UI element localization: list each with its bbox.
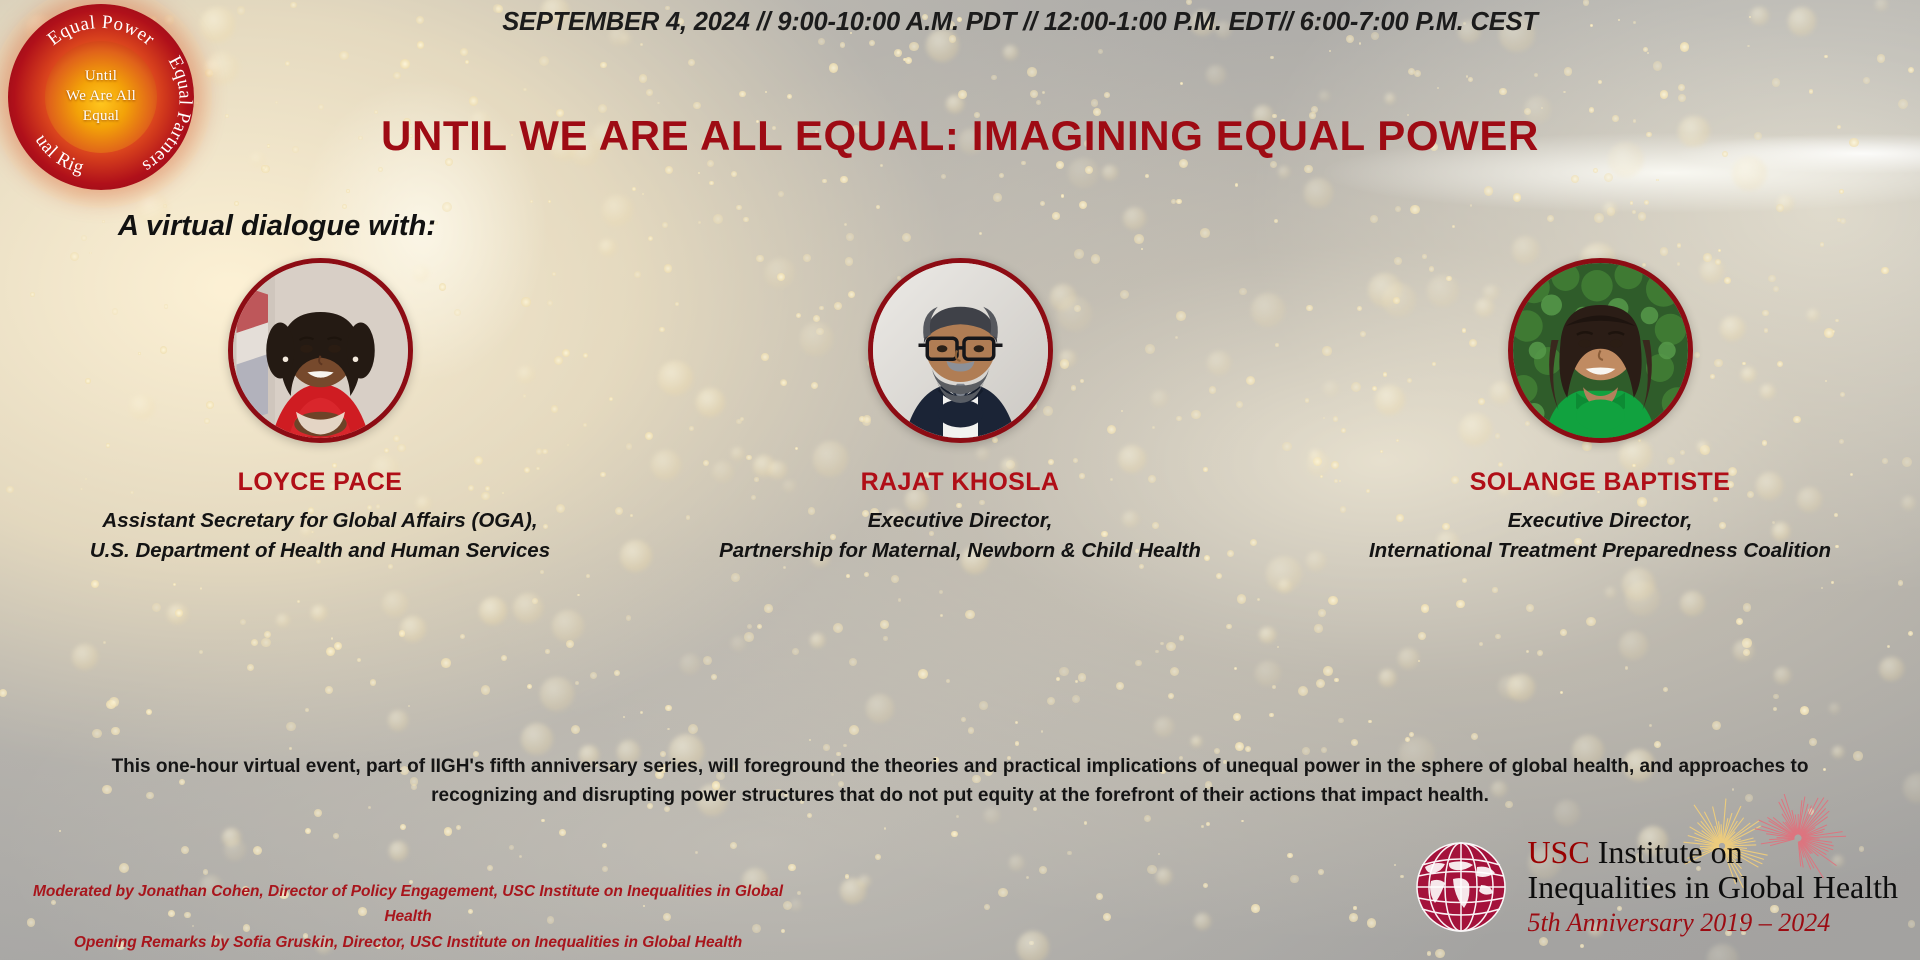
moderator-credit: Moderated by Jonathan Cohen, Director of…	[18, 880, 798, 930]
speaker-card: RAJAT KHOSLA Executive Director, Partner…	[680, 258, 1240, 567]
portrait-solange-baptiste	[1508, 258, 1693, 443]
usc-institute-on: Institute on	[1590, 834, 1743, 870]
badge-center-line-2: We Are All	[66, 87, 136, 107]
portrait-loyce-pace	[228, 258, 413, 443]
usc-logo-text: USC Institute on Inequalities in Global …	[1527, 836, 1898, 937]
globe-icon	[1411, 837, 1511, 937]
speaker-name: RAJAT KHOSLA	[861, 468, 1060, 497]
credits: Moderated by Jonathan Cohen, Director of…	[18, 880, 798, 955]
portrait-rajat-khosla	[868, 258, 1053, 443]
badge-center-line-1: Until	[85, 67, 117, 87]
usc-logo-line-2: Inequalities in Global Health	[1527, 870, 1898, 905]
usc-institute-logo: USC Institute on Inequalities in Global …	[1411, 828, 1898, 946]
usc-acronym: USC	[1527, 834, 1589, 870]
usc-logo-line-1: USC Institute on	[1527, 836, 1898, 870]
event-description: This one-hour virtual event, part of IIG…	[60, 752, 1860, 811]
opening-remarks-credit: Opening Remarks by Sofia Gruskin, Direct…	[18, 931, 798, 956]
speaker-name: SOLANGE BAPTISTE	[1470, 468, 1731, 497]
speaker-card: SOLANGE BAPTISTE Executive Director, Int…	[1320, 258, 1880, 567]
usc-anniversary-tagline: 5th Anniversary 2019 – 2024	[1527, 908, 1898, 938]
flyer-canvas: Equal Power Equal Partners Equal Rights …	[0, 0, 1920, 960]
event-datetime: SEPTEMBER 4, 2024 // 9:00-10:00 A.M. PDT…	[0, 8, 1920, 37]
speaker-role: Assistant Secretary for Global Affairs (…	[90, 506, 550, 567]
dialogue-label: A virtual dialogue with:	[118, 210, 436, 243]
page-title: UNTIL WE ARE ALL EQUAL: IMAGINING EQUAL …	[0, 112, 1920, 160]
speakers-row: LOYCE PACE Assistant Secretary for Globa…	[0, 258, 1920, 567]
speaker-card: LOYCE PACE Assistant Secretary for Globa…	[40, 258, 600, 567]
speaker-name: LOYCE PACE	[238, 468, 403, 497]
speaker-role: Executive Director, International Treatm…	[1369, 506, 1831, 567]
speaker-role: Executive Director, Partnership for Mate…	[719, 506, 1201, 567]
